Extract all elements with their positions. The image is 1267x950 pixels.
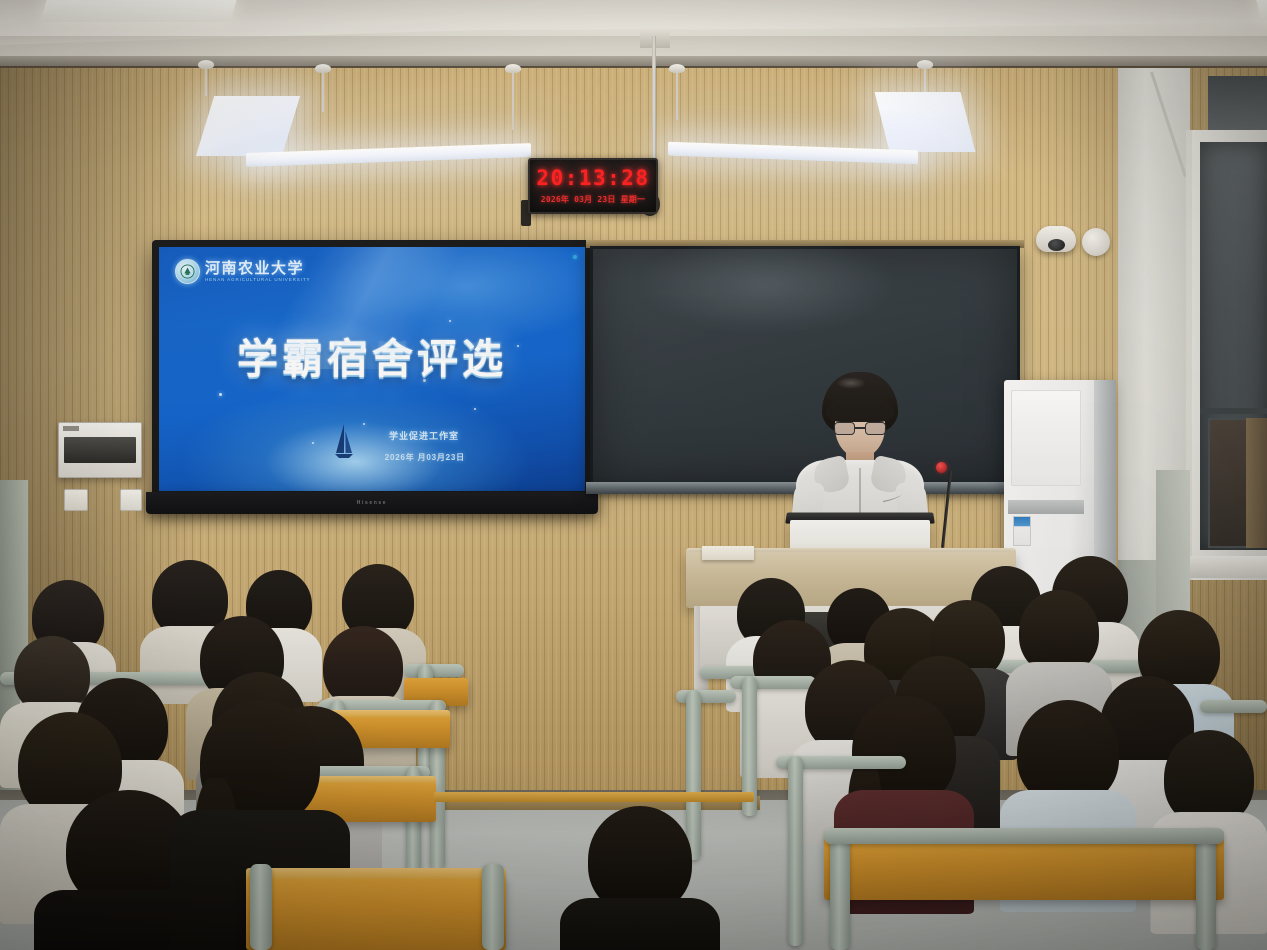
- seat-post: [830, 828, 850, 950]
- light-wire-cap-mid: [505, 64, 521, 73]
- university-logo: 河南农业大学 HENAN AGRICULTURAL UNIVERSITY: [175, 259, 310, 284]
- light-wire-right-a: [676, 70, 678, 120]
- ceiling-beam: [0, 36, 1267, 58]
- presenter: [790, 372, 930, 532]
- university-name-cn: 河南农业大学: [205, 261, 310, 276]
- wall-switch-1[interactable]: [64, 489, 88, 511]
- slide-sparkle: [219, 393, 222, 396]
- smart-display[interactable]: 河南农业大学 HENAN AGRICULTURAL UNIVERSITY 学霸宿…: [152, 240, 592, 498]
- paper-stack: [702, 546, 754, 560]
- smart-display-bezel: Hisense: [146, 492, 598, 514]
- clock-date: 2026年 03月 23日 星期一: [541, 194, 645, 205]
- recessed-ceiling-light-left: [40, 0, 237, 22]
- clock-time: 20:13:28: [536, 168, 649, 189]
- light-wire-cap-right-b: [917, 60, 933, 69]
- slide-sparkle: [312, 442, 314, 444]
- display-power-led: [573, 255, 577, 259]
- slide-sparkle: [363, 423, 365, 425]
- light-wire-cap-left-b: [198, 60, 214, 69]
- glasses-lens-right: [865, 422, 886, 435]
- student: [560, 806, 720, 950]
- dome-camera-icon: [1036, 226, 1076, 252]
- slide-title: 学霸宿舍评选: [159, 325, 585, 385]
- desk-shelf: [434, 792, 754, 802]
- window-wood-edge: [1246, 418, 1267, 548]
- hoodie-logo-icon: [882, 490, 904, 499]
- seat-rail: [1200, 700, 1267, 713]
- university-name-block: 河南农业大学 HENAN AGRICULTURAL UNIVERSITY: [205, 261, 310, 283]
- blackboard-glare: [635, 235, 898, 333]
- light-wire-left-b: [205, 66, 207, 96]
- university-seal-icon: [175, 259, 200, 284]
- ac-display-strip: [1008, 500, 1084, 514]
- seat-rail: [676, 690, 736, 703]
- glasses-icon: [834, 422, 886, 435]
- presentation-slide: 河南农业大学 HENAN AGRICULTURAL UNIVERSITY 学霸宿…: [159, 247, 585, 491]
- slide-sparkle: [449, 320, 451, 322]
- seat-back: [824, 838, 1224, 900]
- microphone-head: [936, 462, 947, 473]
- ac-energy-label: [1013, 516, 1031, 546]
- ac-front-panel: [1011, 390, 1081, 486]
- light-wire-cap-left-a: [315, 64, 331, 73]
- presenter-hair-highlight: [836, 377, 866, 389]
- wall-switch-2[interactable]: [120, 489, 142, 511]
- glasses-lens-left: [834, 422, 855, 435]
- light-wire-left-a: [322, 70, 324, 112]
- seat-rail: [824, 828, 1224, 844]
- seat-post: [250, 864, 272, 950]
- seat-post: [1196, 828, 1216, 950]
- slide-subtitle: 学业促进工作室: [389, 429, 459, 442]
- seat-post: [788, 756, 803, 946]
- ceiling-light-right-head: [875, 92, 976, 152]
- wall-speaker-icon: [1082, 228, 1110, 256]
- light-wire-mid: [512, 70, 514, 130]
- presenter-fringe: [826, 396, 894, 422]
- slide-date: 2026年 月03月23日: [385, 452, 465, 463]
- panel-label: [63, 426, 79, 431]
- seat-back: [246, 876, 506, 950]
- light-wire-cap-right-a: [669, 64, 685, 73]
- camera-lens: [1048, 239, 1065, 251]
- seat-back-top: [246, 868, 506, 879]
- smart-display-brand: Hisense: [357, 500, 387, 506]
- classroom-scene: 20:13:28 2026年 03月 23日 星期一: [0, 0, 1267, 950]
- glasses-bridge: [855, 427, 865, 429]
- sailboat-graphic: [334, 423, 354, 461]
- window-mullion: [1200, 408, 1267, 414]
- panel-breaker-window: [64, 437, 136, 463]
- seat-rail: [404, 664, 464, 677]
- slide-sparkle: [474, 408, 476, 410]
- ceiling-light-left-head: [196, 96, 300, 156]
- right-upper-frame: [1208, 76, 1267, 134]
- wall-led-clock: 20:13:28 2026年 03月 23日 星期一: [528, 158, 658, 214]
- window-sill: [1186, 556, 1267, 578]
- university-name-en: HENAN AGRICULTURAL UNIVERSITY: [205, 278, 310, 283]
- electrical-panel[interactable]: [58, 422, 142, 478]
- seat-post: [482, 864, 504, 950]
